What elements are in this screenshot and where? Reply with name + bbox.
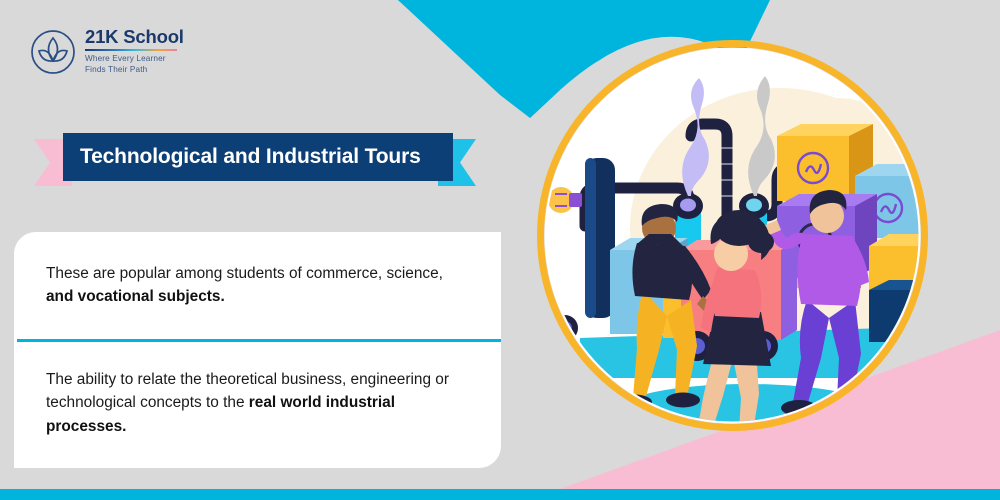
industrial-factory-tour-illustration [525, 28, 940, 443]
content-card-stack: These are popular among students of comm… [14, 232, 501, 468]
card-1-lead: These are popular among students of comm… [46, 265, 443, 282]
lotus-circle-logo-icon [30, 29, 76, 75]
card-2-text: The ability to relate the theoretical bu… [46, 368, 471, 438]
card-1-emphasis: and vocational subjects. [46, 288, 225, 305]
bottom-accent-bar [0, 489, 1000, 500]
logo-wordmark: 21K School [85, 28, 184, 47]
logo-text-block: 21K School Where Every Learner Finds The… [85, 28, 184, 76]
logo-tagline-line-1: Where Every Learner [85, 54, 184, 65]
logo-tagline-line-2: Finds Their Path [85, 65, 184, 76]
ribbon-body: Technological and Industrial Tours [63, 133, 453, 181]
card-commerce-science: These are popular among students of comm… [14, 232, 501, 339]
card-1-text: These are popular among students of comm… [46, 262, 471, 309]
brand-logo[interactable]: 21K School Where Every Learner Finds The… [30, 28, 184, 76]
page-title: Technological and Industrial Tours [80, 145, 421, 169]
logo-gradient-rule [85, 49, 177, 52]
slide-canvas: 21K School Where Every Learner Finds The… [0, 0, 1000, 500]
card-theory-to-practice: The ability to relate the theoretical bu… [14, 342, 501, 468]
